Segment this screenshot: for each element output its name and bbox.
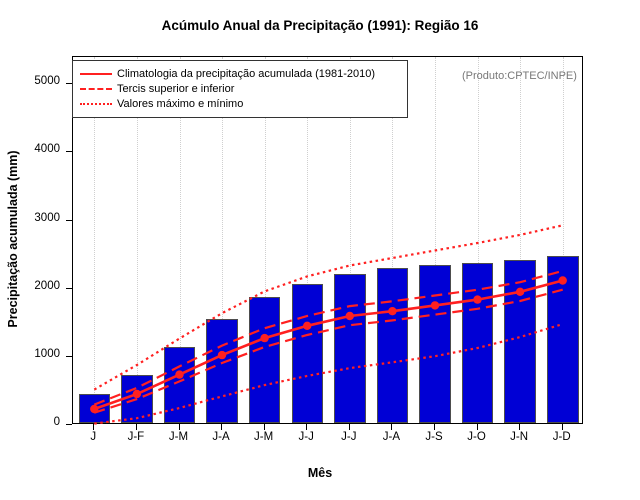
data-point-marker — [303, 322, 311, 330]
x-axis-tick — [477, 424, 478, 430]
y-axis-tick-label: 3000 — [14, 212, 60, 224]
data-point-marker — [90, 405, 98, 413]
line-dashed — [94, 271, 562, 405]
data-point-marker — [133, 390, 141, 398]
x-axis-tick-label: J-J — [284, 431, 328, 443]
x-axis-tick-label: J-M — [157, 431, 201, 443]
x-axis-tick — [264, 424, 265, 430]
data-point-marker — [559, 276, 567, 284]
y-axis-tick-label: 2000 — [14, 280, 60, 292]
data-point-marker — [473, 295, 481, 303]
data-point-marker — [346, 312, 354, 320]
legend-item-minmax: Valores máximo e mínimo — [79, 96, 401, 111]
y-axis-tick — [66, 220, 72, 221]
data-point-marker — [175, 370, 183, 378]
producer-note: (Produto:CPTEC/INPE) — [462, 70, 577, 82]
y-axis-tick — [66, 424, 72, 425]
x-axis-tick — [391, 424, 392, 430]
chart-page: Acúmulo Anual da Precipitação (1991): Re… — [0, 0, 640, 500]
dashed-line-icon — [79, 82, 113, 95]
y-axis-tick — [66, 151, 72, 152]
x-axis-tick — [519, 424, 520, 430]
x-axis-tick-label: J-O — [455, 431, 499, 443]
data-point-marker — [516, 288, 524, 296]
line-solid-with-markers — [94, 281, 562, 410]
y-axis-tick — [66, 356, 72, 357]
x-axis-tick — [93, 424, 94, 430]
legend-item-climatology: Climatologia da precipitação acumulada (… — [79, 66, 401, 81]
legend-label: Climatologia da precipitação acumulada (… — [113, 68, 375, 80]
y-axis-tick-label: 0 — [14, 416, 60, 428]
line-dashed — [94, 290, 562, 413]
legend-label: Tercis superior e inferior — [113, 83, 234, 95]
y-axis-tick-label: 5000 — [14, 75, 60, 87]
x-axis-tick-label: J-S — [412, 431, 456, 443]
y-axis-title: Precipitação acumulada (mm) — [6, 74, 20, 404]
solid-line-icon — [79, 67, 113, 80]
x-axis-tick — [349, 424, 350, 430]
data-point-marker — [431, 301, 439, 309]
x-axis-tick-label: J-D — [540, 431, 584, 443]
data-point-marker — [260, 334, 268, 342]
y-axis-tick — [66, 288, 72, 289]
x-axis-tick-label: J — [71, 431, 115, 443]
y-axis-tick-label: 1000 — [14, 348, 60, 360]
x-axis-tick — [136, 424, 137, 430]
y-axis-tick-label: 4000 — [14, 143, 60, 155]
legend: Climatologia da precipitação acumulada (… — [72, 60, 408, 118]
x-axis-tick-label: J-J — [327, 431, 371, 443]
legend-item-terciles: Tercis superior e inferior — [79, 81, 401, 96]
x-axis-tick — [221, 424, 222, 430]
x-axis-tick-label: J-N — [497, 431, 541, 443]
x-axis-tick-label: J-F — [114, 431, 158, 443]
x-axis-title: Mês — [0, 466, 640, 480]
x-axis-tick — [306, 424, 307, 430]
x-axis-tick — [434, 424, 435, 430]
legend-label: Valores máximo e mínimo — [113, 98, 243, 110]
x-axis-tick-label: J-A — [369, 431, 413, 443]
x-axis-tick-label: J-M — [242, 431, 286, 443]
x-axis-tick — [179, 424, 180, 430]
data-point-marker — [388, 307, 396, 315]
data-point-marker — [218, 351, 226, 359]
dotted-line-icon — [79, 97, 113, 110]
x-axis-tick — [562, 424, 563, 430]
page-title: Acúmulo Anual da Precipitação (1991): Re… — [0, 18, 640, 33]
x-axis-tick-label: J-A — [199, 431, 243, 443]
line-dotted — [94, 225, 562, 389]
